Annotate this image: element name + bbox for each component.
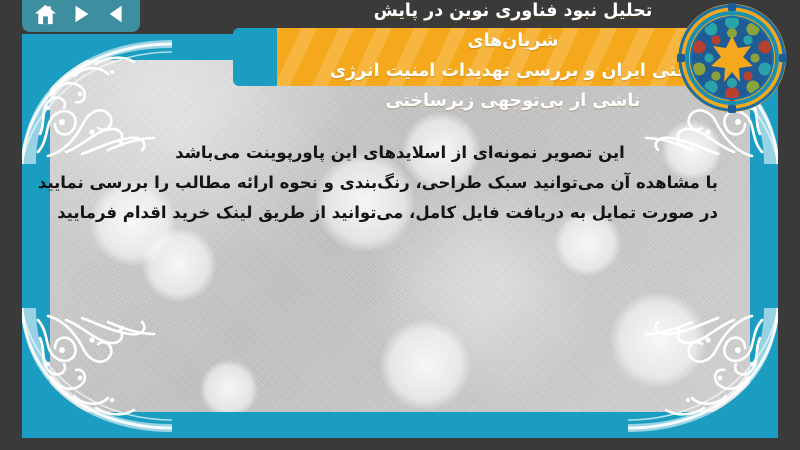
presentation-viewer: این تصویر نمونه‌ای از اسلایدهای این پاور… <box>0 0 800 450</box>
slide-body-text: این تصویر نمونه‌ای از اسلایدهای این پاور… <box>82 138 718 228</box>
bokeh-circle <box>200 360 258 412</box>
body-line: در صورت تمایل به دریافت فایل کامل، می‌تو… <box>82 198 718 228</box>
page-title: تحلیل نبود فناوری نوین در پایش شریان‌های… <box>329 0 697 116</box>
body-line: با مشاهده آن می‌توانید سبک طراحی، رنگ‌بن… <box>82 168 718 198</box>
slide-navigation-bar <box>22 0 140 32</box>
bokeh-circle <box>380 320 470 410</box>
home-button[interactable] <box>32 1 58 27</box>
slide-title-banner: تحلیل نبود فناوری نوین در پایش شریان‌های… <box>233 0 711 86</box>
bokeh-circle <box>610 292 706 388</box>
previous-slide-button[interactable] <box>104 1 130 27</box>
next-slide-button[interactable] <box>68 1 94 27</box>
body-line: این تصویر نمونه‌ای از اسلایدهای این پاور… <box>82 138 718 168</box>
banner-teal-tab <box>233 28 281 86</box>
persian-medallion-ornament <box>676 2 788 114</box>
bokeh-circle <box>142 228 216 302</box>
